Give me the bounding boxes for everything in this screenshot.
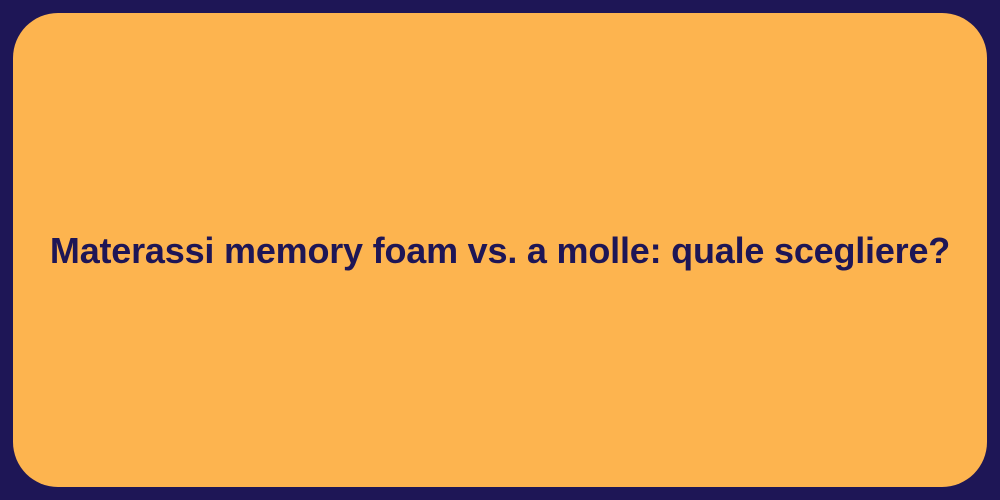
title-card: Materassi memory foam vs. a molle: quale… xyxy=(13,13,987,487)
outer-frame: Materassi memory foam vs. a molle: quale… xyxy=(0,0,1000,500)
page-title: Materassi memory foam vs. a molle: quale… xyxy=(50,228,950,273)
